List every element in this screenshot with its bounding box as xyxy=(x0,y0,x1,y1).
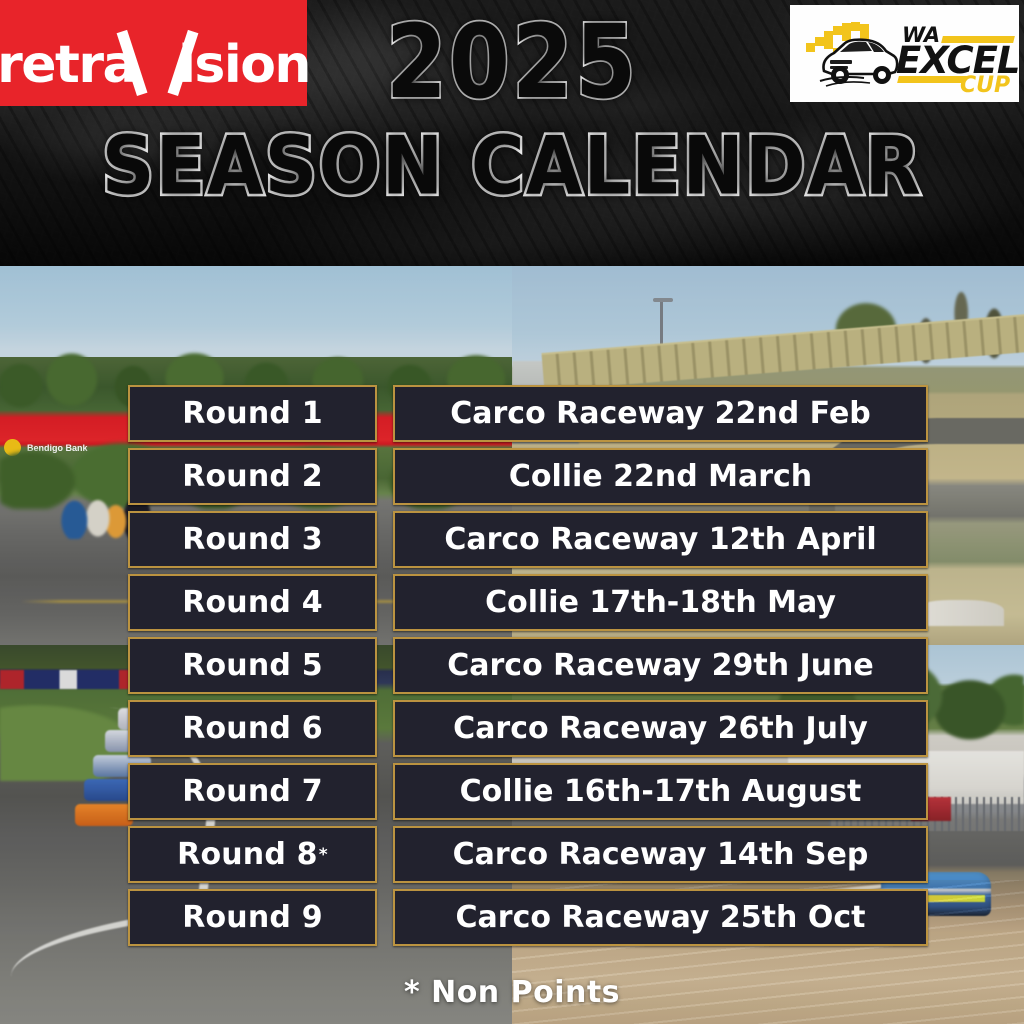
year-title: 2025 xyxy=(0,12,1024,113)
venue-date-cell: Carco Raceway 22nd Feb xyxy=(393,385,928,442)
venue-date-label: Carco Raceway 22nd Feb xyxy=(450,399,871,429)
venue-date-label: Carco Raceway 26th July xyxy=(453,714,868,744)
header-banner: retra ision xyxy=(0,0,1024,266)
round-label-cell: Round 5 xyxy=(128,637,377,694)
venue-date-label: Collie 16th-17th August xyxy=(460,777,862,807)
venue-date-label: Carco Raceway 12th April xyxy=(444,525,876,555)
table-row: Round 8*Carco Raceway 14th Sep xyxy=(128,826,928,883)
round-label-cell: Round 3 xyxy=(128,511,377,568)
round-label-cell: Round 4 xyxy=(128,574,377,631)
season-calendar-poster: Bendigo Bank xyxy=(0,0,1024,1024)
round-label: Round 1 xyxy=(182,399,323,429)
venue-date-cell: Carco Raceway 29th June xyxy=(393,637,928,694)
venue-date-cell: Carco Raceway 14th Sep xyxy=(393,826,928,883)
table-row: Round 6Carco Raceway 26th July xyxy=(128,700,928,757)
round-label: Round 4 xyxy=(182,588,323,618)
tyre-wall xyxy=(541,313,1024,391)
table-row: Round 4Collie 17th-18th May xyxy=(128,574,928,631)
footnote: * Non Points xyxy=(0,975,1024,1010)
round-label-cell: Round 7 xyxy=(128,763,377,820)
table-row: Round 9Carco Raceway 25th Oct xyxy=(128,889,928,946)
venue-date-cell: Carco Raceway 26th July xyxy=(393,700,928,757)
round-label-cell: Round 8* xyxy=(128,826,377,883)
light-head xyxy=(653,298,673,302)
table-row: Round 2Collie 22nd March xyxy=(128,448,928,505)
venue-date-cell: Carco Raceway 25th Oct xyxy=(393,889,928,946)
calendar-table: Round 1Carco Raceway 22nd FebRound 2Coll… xyxy=(128,385,928,952)
venue-date-cell: Collie 22nd March xyxy=(393,448,928,505)
venue-date-cell: Collie 17th-18th May xyxy=(393,574,928,631)
venue-date-cell: Collie 16th-17th August xyxy=(393,763,928,820)
round-label-cell: Round 2 xyxy=(128,448,377,505)
venue-date-label: Collie 22nd March xyxy=(509,462,812,492)
venue-date-label: Collie 17th-18th May xyxy=(485,588,836,618)
round-label: Round 9 xyxy=(182,903,323,933)
round-label: Round 8 xyxy=(177,840,318,870)
venue-date-label: Carco Raceway 25th Oct xyxy=(456,903,866,933)
venue-date-label: Carco Raceway 29th June xyxy=(447,651,874,681)
round-label-cell: Round 1 xyxy=(128,385,377,442)
round-label: Round 3 xyxy=(182,525,323,555)
venue-date-label: Carco Raceway 14th Sep xyxy=(453,840,869,870)
venue-date-cell: Carco Raceway 12th April xyxy=(393,511,928,568)
round-label: Round 6 xyxy=(182,714,323,744)
round-label-cell: Round 9 xyxy=(128,889,377,946)
round-label: Round 5 xyxy=(182,651,323,681)
race-car xyxy=(75,804,133,826)
round-label-cell: Round 6 xyxy=(128,700,377,757)
table-row: Round 5Carco Raceway 29th June xyxy=(128,637,928,694)
page-title: SEASON CALENDAR xyxy=(0,126,1024,207)
round-label: Round 7 xyxy=(182,777,323,807)
table-row: Round 7Collie 16th-17th August xyxy=(128,763,928,820)
table-row: Round 1Carco Raceway 22nd Feb xyxy=(128,385,928,442)
table-row: Round 3Carco Raceway 12th April xyxy=(128,511,928,568)
round-label: Round 2 xyxy=(182,462,323,492)
